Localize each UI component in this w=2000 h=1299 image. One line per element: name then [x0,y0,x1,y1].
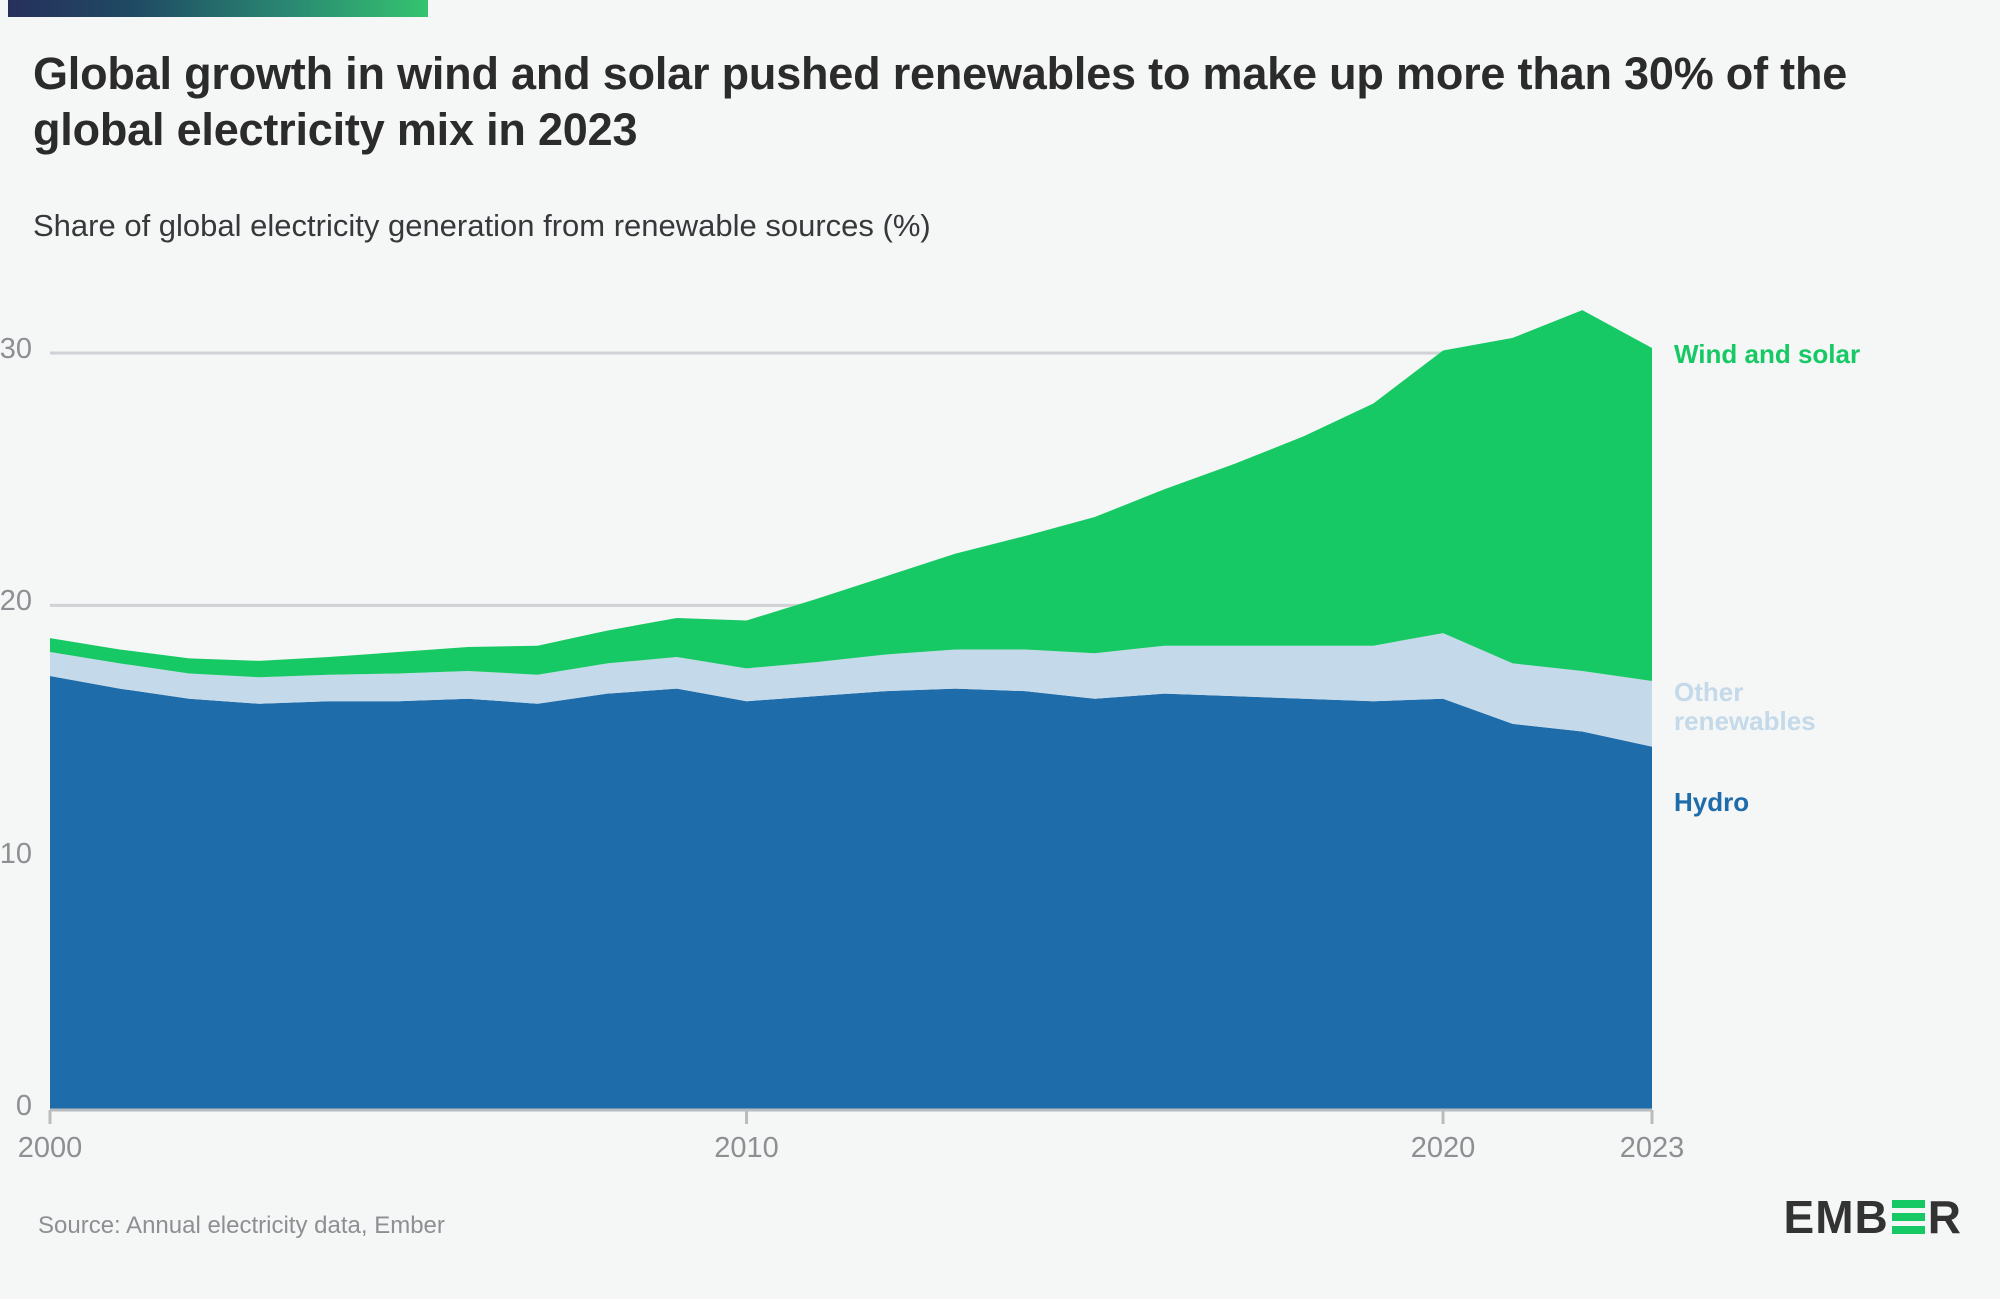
area-series-hydro [50,676,1652,1110]
y-tick-label: 30 [0,333,32,366]
stacked-area-chart [0,0,2000,1299]
x-tick-label: 2010 [702,1132,792,1165]
y-tick-label: 10 [0,838,32,871]
legend-label-wind-and-solar[interactable]: Wind and solar [1674,340,1974,369]
source-note: Source: Annual electricity data, Ember [38,1212,445,1240]
y-tick-label: 0 [16,1090,32,1123]
x-axis-ticks [50,1110,1652,1124]
logo-text-suffix: R [1928,1194,1962,1240]
x-tick-label: 2023 [1607,1132,1697,1165]
area-series-wind-and-solar [50,310,1652,681]
x-tick-label: 2000 [5,1132,95,1165]
legend-label-other-renewables[interactable]: Other renewables [1674,678,1864,736]
logo-e-icon [1892,1200,1925,1234]
x-tick-label: 2020 [1398,1132,1488,1165]
ember-logo: EMB R [1784,1193,1962,1241]
y-tick-label: 20 [0,585,32,618]
logo-text-prefix: EMB [1784,1194,1889,1240]
chart-page: Global growth in wind and solar pushed r… [0,0,2000,1299]
series-areas [50,310,1652,1110]
legend-label-hydro[interactable]: Hydro [1674,788,1974,817]
